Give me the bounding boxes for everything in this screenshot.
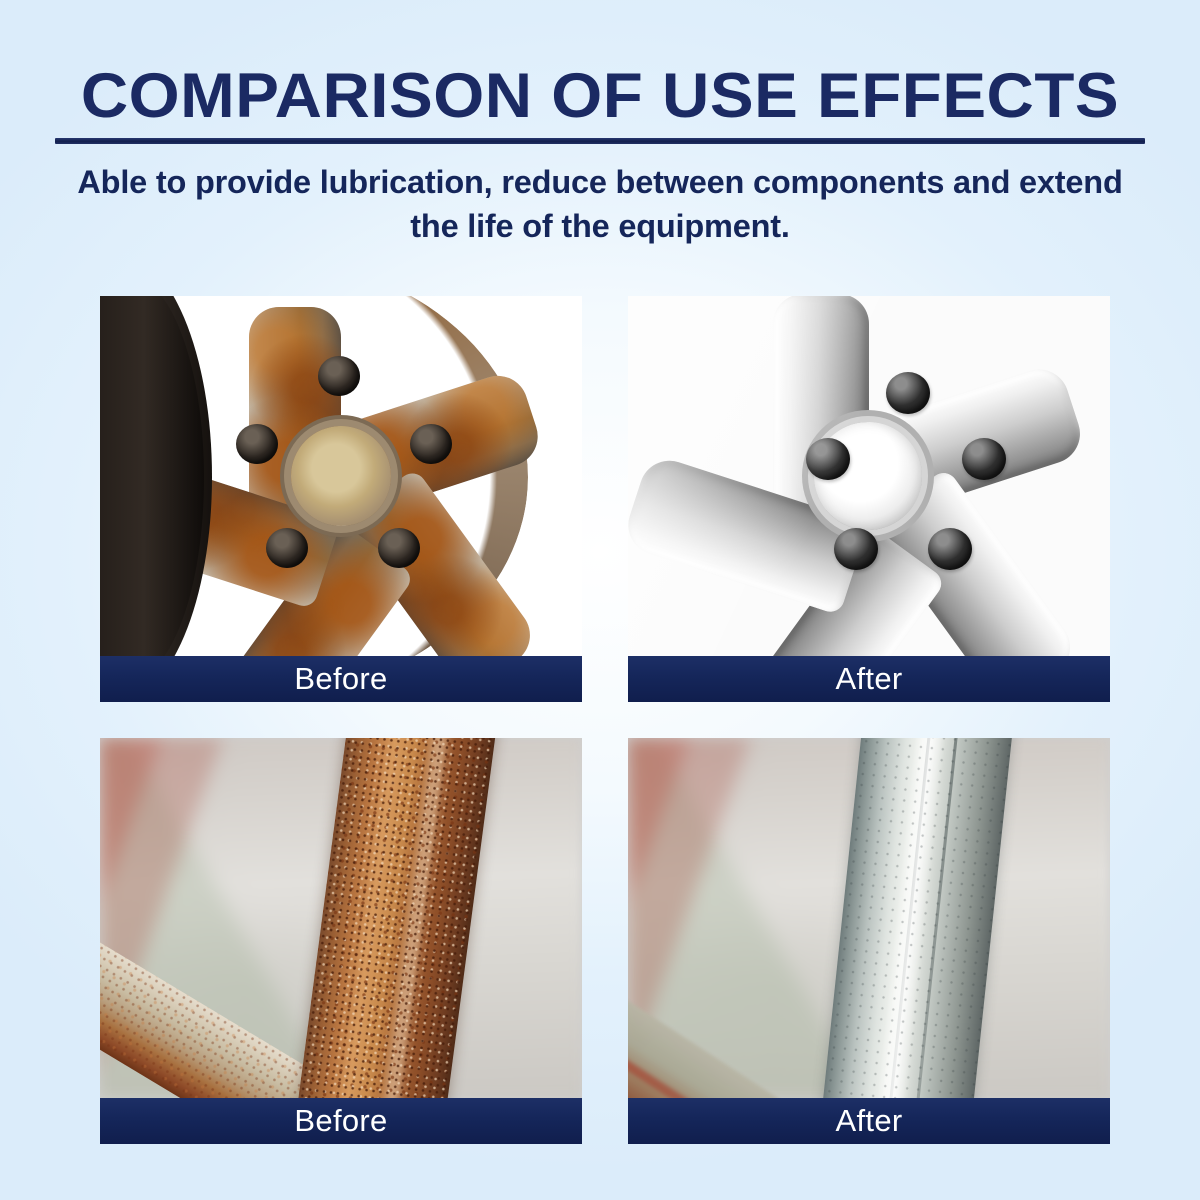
comparison-panel-pipe-before: Before: [100, 738, 582, 1144]
lug-nut: [928, 528, 972, 570]
comparison-panel-pipe-after: After: [628, 738, 1110, 1144]
comparison-panel-wheel-before: Before: [100, 296, 582, 702]
photo-rusty-wheel: [100, 296, 582, 656]
panel-label-text: After: [836, 662, 903, 696]
lug-nut: [236, 424, 278, 464]
lug-nut: [378, 528, 420, 568]
panel-label-bar: Before: [100, 1098, 582, 1144]
pipe-highlight: [873, 738, 950, 1098]
lug-nut: [886, 372, 930, 414]
panel-label-text: After: [836, 1104, 903, 1138]
panel-label-bar: After: [628, 1098, 1110, 1144]
page-title: COMPARISON OF USE EFFECTS: [0, 62, 1200, 130]
comparison-grid: Before: [100, 296, 1108, 1142]
panel-label-bar: After: [628, 656, 1110, 702]
comparison-panel-wheel-after: After: [628, 296, 1110, 702]
lug-nut: [962, 438, 1006, 480]
photo-clean-pipe: [628, 738, 1110, 1098]
lug-nut: [806, 438, 850, 480]
pipe-highlight: [373, 738, 456, 1098]
pipe-groove: [911, 738, 961, 1098]
pipe-groove: [885, 738, 935, 1098]
infographic-page: COMPARISON OF USE EFFECTS Able to provid…: [0, 0, 1200, 1200]
lug-nut: [318, 356, 360, 396]
panel-label-text: Before: [294, 1104, 387, 1138]
lug-nut: [834, 528, 878, 570]
lug-nut: [410, 424, 452, 464]
panel-label-bar: Before: [100, 656, 582, 702]
lug-nut: [266, 528, 308, 568]
title-divider: [55, 138, 1145, 144]
page-subtitle: Able to provide lubrication, reduce betw…: [50, 160, 1150, 248]
wheel-hub-cap: [291, 426, 391, 526]
photo-clean-wheel: [628, 296, 1110, 656]
clean-wheel-illustration: [628, 296, 1110, 656]
rusty-wheel-illustration: [100, 296, 582, 656]
photo-rusty-pipe: [100, 738, 582, 1098]
panel-label-text: Before: [294, 662, 387, 696]
